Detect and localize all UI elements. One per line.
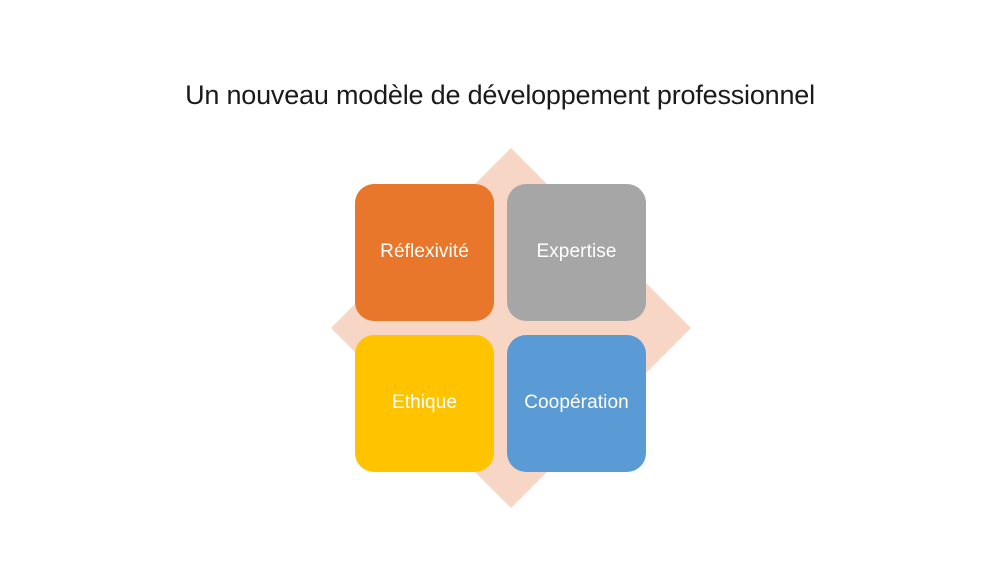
quadrant-expertise[interactable]: Expertise	[507, 184, 646, 321]
slide-canvas: Un nouveau modèle de développement profe…	[0, 0, 1000, 562]
quadrant-label-cooperation: Coopération	[524, 392, 629, 415]
quadrant-label-expertise: Expertise	[536, 241, 616, 264]
quadrant-label-ethique: Ethique	[392, 392, 457, 415]
quadrant-ethique[interactable]: Ethique	[355, 335, 494, 472]
quadrant-cooperation[interactable]: Coopération	[507, 335, 646, 472]
quadrant-reflexivite[interactable]: Réflexivité	[355, 184, 494, 321]
page-title: Un nouveau modèle de développement profe…	[0, 80, 1000, 111]
quadrant-matrix-diagram: Réflexivité Expertise Ethique Coopératio…	[328, 145, 694, 511]
quadrant-label-reflexivite: Réflexivité	[380, 241, 469, 264]
